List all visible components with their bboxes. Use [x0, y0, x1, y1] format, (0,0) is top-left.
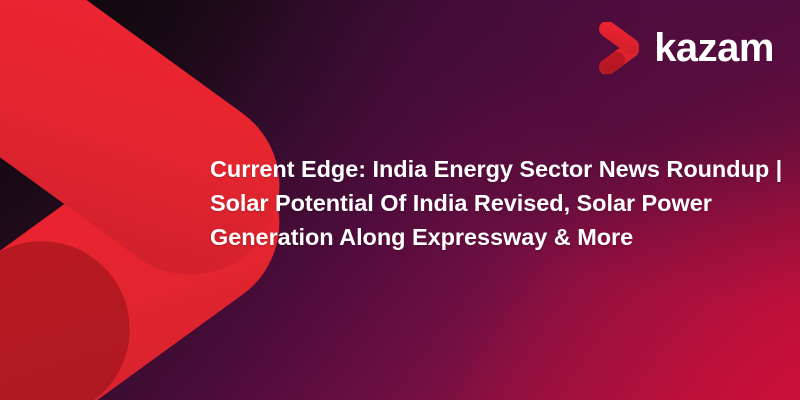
- kazam-wordmark: kazam: [654, 28, 774, 68]
- headline-line-1: Current Edge: India Energy Sector News R…: [210, 152, 765, 186]
- article-banner: kazam Current Edge: India Energy Sector …: [0, 0, 800, 400]
- headline-line-2: Solar Potential Of India Revised, Solar …: [210, 186, 765, 220]
- article-headline: Current Edge: India Energy Sector News R…: [210, 152, 765, 254]
- kazam-logo-lockup[interactable]: kazam: [595, 22, 774, 74]
- kazam-chevron-logo-icon: [595, 22, 643, 74]
- headline-line-3: Generation Along Expressway & More: [210, 220, 765, 254]
